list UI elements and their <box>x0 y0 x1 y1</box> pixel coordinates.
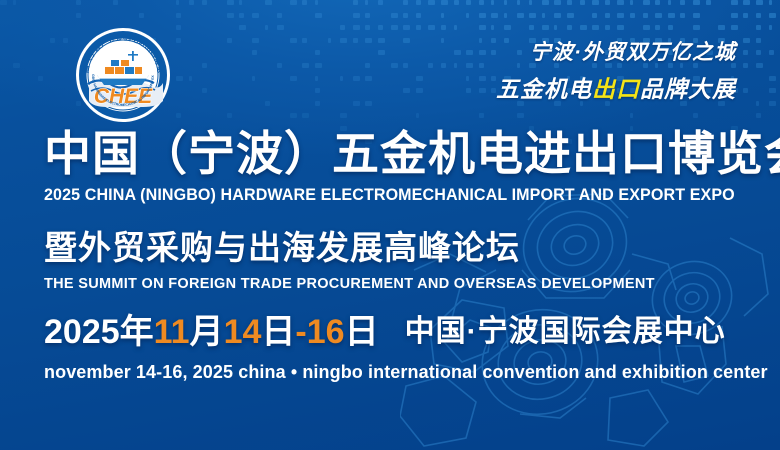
event-date: 2025年11月14日-16日 <box>44 310 379 354</box>
date-year-unit: 年 <box>120 313 154 351</box>
date-month-unit: 月 <box>190 313 224 351</box>
subtitle-cn: 暨外贸采购与出海发展高峰论坛 <box>44 227 744 269</box>
venue-cn: 中国·宁波国际会展中心 <box>405 310 726 354</box>
slogan-line-1: 宁波·外贸双万亿之城 <box>496 38 736 68</box>
venue-en: november 14-16, 2025 china • ningbo inte… <box>44 362 768 383</box>
slogan-line-2-prefix: 五金机电 <box>496 76 592 102</box>
slogan-line-2: 五金机电出口品牌大展 <box>496 74 736 104</box>
chee-logo[interactable]: CHEE 中国（宁波）五金机电进出口博览会 CHINA (NINGBO) HAR… <box>75 27 171 123</box>
date-month: 11 <box>154 313 190 351</box>
title-block: 中国（宁波）五金机电进出口博览会 2025 CHINA (NINGBO) HAR… <box>44 126 744 292</box>
slogan-block: 宁波·外贸双万亿之城 五金机电出口品牌大展 <box>496 38 736 104</box>
slogan-line-2-suffix: 品牌大展 <box>640 76 736 102</box>
main-title-en: 2025 CHINA (NINGBO) HARDWARE ELECTROMECH… <box>44 186 727 205</box>
date-day-unit: 日 <box>261 313 295 351</box>
date-venue-row: 2025年11月14日-16日中国·宁波国际会展中心 <box>44 310 726 354</box>
slogan-line-2-highlight: 出口 <box>592 76 640 102</box>
subtitle-en: THE SUMMIT ON FOREIGN TRADE PROCUREMENT … <box>44 276 744 292</box>
date-year: 2025 <box>44 313 120 351</box>
exhibition-banner: CHEE 中国（宁波）五金机电进出口博览会 CHINA (NINGBO) HAR… <box>0 0 780 450</box>
main-title-cn: 中国（宁波）五金机电进出口博览会 <box>44 126 744 182</box>
date-day-end-unit: 日 <box>345 313 379 351</box>
date-day-start: 14 <box>224 313 262 351</box>
date-day-end: 16 <box>307 313 345 351</box>
date-dash: - <box>295 313 306 351</box>
